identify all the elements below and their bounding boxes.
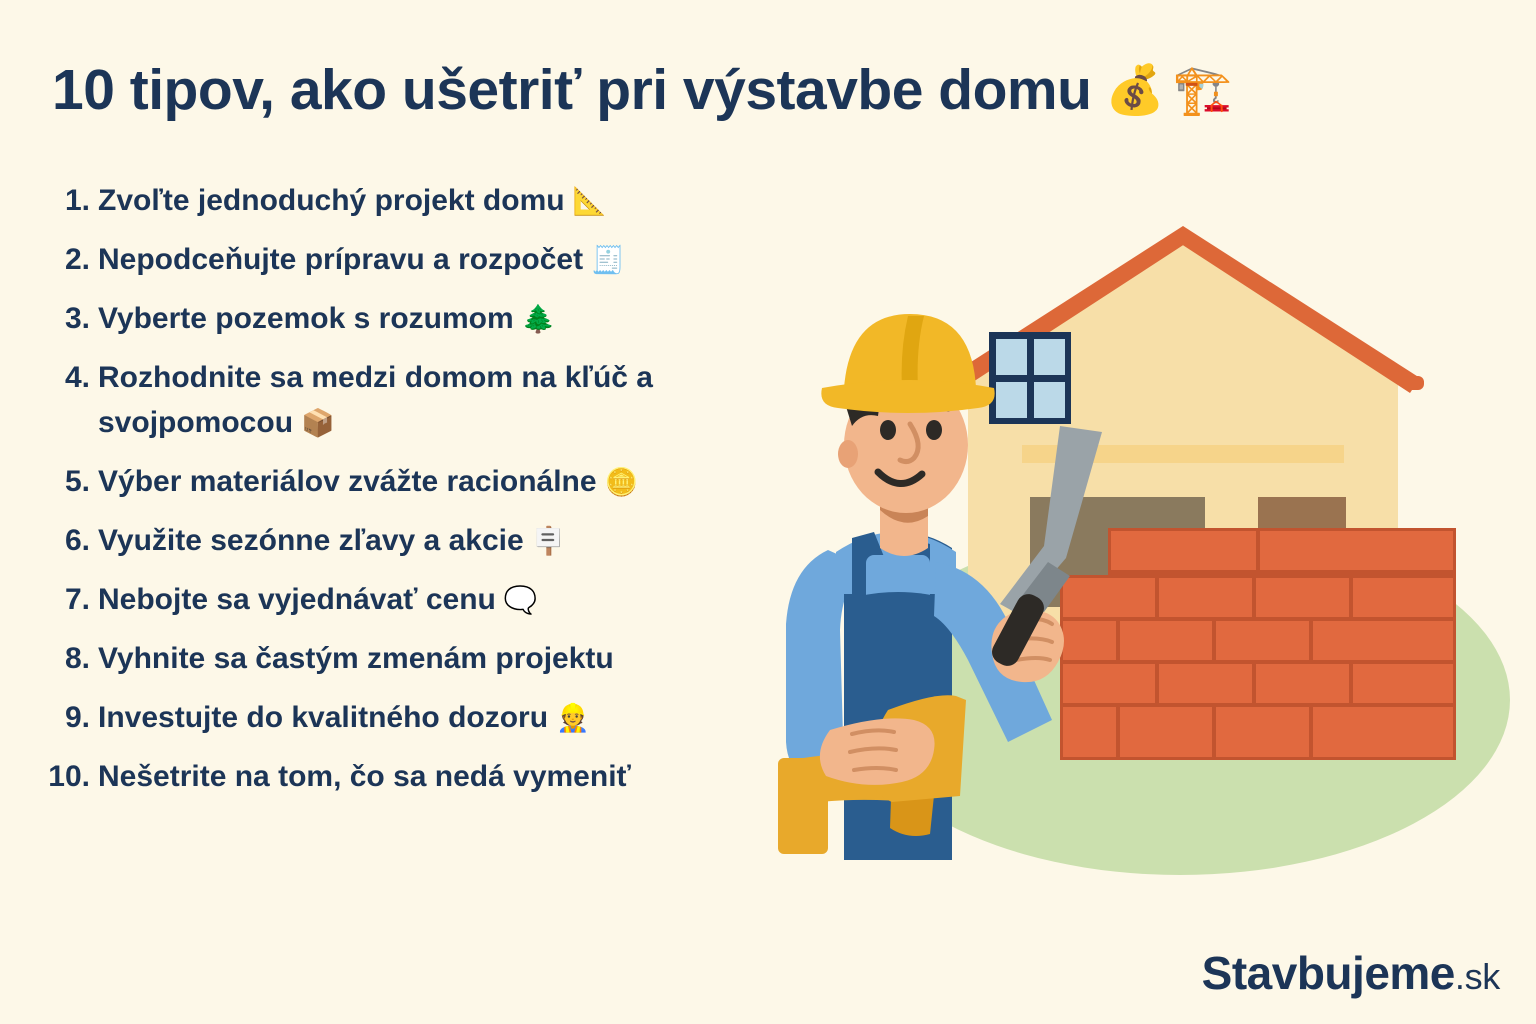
roof-eave-right [1404,376,1424,390]
brick [1216,707,1309,757]
brick [1159,664,1252,703]
coin-icon: 🪙 [605,467,639,497]
worker-helmet-brim [821,380,994,413]
brick [1216,621,1309,660]
worker-left-hand [820,718,935,785]
list-item: 7. Nebojte sa vyjednávať cenu🗨️ [40,577,770,622]
illustration-svg [760,200,1536,940]
brick [1313,707,1453,757]
list-item-label: Rozhodnite sa medzi domom na kľúč a svoj… [98,361,653,439]
list-item-label: Vyberte pozemok s rozumom [98,302,514,335]
list-item-label: Vyhnite sa častým zmenám projektu [98,642,614,675]
list-item-number: 9. [40,695,98,740]
list-item-body: Investujte do kvalitného dozoru👷 [98,695,590,740]
construction-icon: 🏗️ [1173,67,1232,115]
brick [1353,578,1453,617]
speech-balloon-icon: 🗨️ [504,585,538,615]
list-item-body: Zvoľte jednoduchý projekt domu📐 [98,178,606,223]
list-item: 5. Výber materiálov zvážte racionálne🪙 [40,459,770,504]
worker-ear [838,440,858,468]
hand-knuckle-line-3 [854,768,896,770]
brick [1159,578,1252,617]
list-item: 3. Vyberte pozemok s rozumom🌲 [40,296,770,341]
worker-eye-left [880,420,896,440]
tips-list: 1. Zvoľte jednoduchý projekt domu📐 2. Ne… [40,178,770,813]
brick [1063,707,1116,757]
list-item-label: Využite sezónne zľavy a akcie [98,524,524,557]
list-item-number: 5. [40,459,98,504]
list-item-body: Výber materiálov zvážte racionálne🪙 [98,459,638,504]
list-item-number: 7. [40,577,98,622]
brick [1063,621,1116,660]
triangular-ruler-icon: 📐 [573,186,607,216]
brick [1256,578,1349,617]
list-item-label: Nešetrite na tom, čo sa nedá vymeniť [98,760,631,793]
site-logo[interactable]: Stavbujeme.sk [1202,950,1500,996]
list-item-label: Výber materiálov zvážte racionálne [98,465,597,498]
list-item-number: 3. [40,296,98,341]
list-item-body: Vyhnite sa častým zmenám projektu [98,636,614,681]
window-pane-bl [996,382,1027,418]
brick [1313,621,1453,660]
logo-brand-text: Stavbujeme [1202,947,1455,999]
list-item: 6. Využite sezónne zľavy a akcie🪧 [40,518,770,563]
brick [1063,664,1155,703]
brick [1256,664,1349,703]
money-bag-icon: 💰 [1105,67,1164,115]
attic-window [989,332,1071,424]
logo-tld-text: .sk [1455,956,1500,997]
evergreen-tree-icon: 🌲 [522,304,556,334]
list-item-number: 6. [40,518,98,563]
list-item-number: 1. [40,178,98,223]
list-item-body: Nešetrite na tom, čo sa nedá vymeniť [98,754,631,799]
list-item: 8. Vyhnite sa častým zmenám projektu [40,636,770,681]
brick [1120,621,1212,660]
construction-worker-icon: 👷 [556,703,590,733]
window-pane-br [1034,382,1065,418]
list-item-number: 10. [40,754,98,799]
list-item-number: 8. [40,636,98,681]
list-item-label: Zvoľte jednoduchý projekt domu [98,184,565,217]
package-box-icon: 📦 [301,408,335,438]
list-item: 10. Nešetrite na tom, čo sa nedá vymeniť [40,754,770,799]
list-item: 1. Zvoľte jednoduchý projekt domu📐 [40,178,770,223]
page-title-text: 10 tipov, ako ušetriť pri výstavbe domu [52,58,1091,124]
list-item-body: Vyberte pozemok s rozumom🌲 [98,296,555,341]
receipt-icon: 🧾 [591,245,625,275]
list-item-body: Rozhodnite sa medzi domom na kľúč a svoj… [98,355,758,445]
list-item-body: Využite sezónne zľavy a akcie🪧 [98,518,565,563]
list-item-body: Nebojte sa vyjednávať cenu🗨️ [98,577,538,622]
brick [1260,531,1453,570]
list-item: 2. Nepodceňujte prípravu a rozpočet🧾 [40,237,770,282]
infographic-canvas: 10 tipov, ako ušetriť pri výstavbe domu … [0,0,1536,1024]
list-item-number: 2. [40,237,98,282]
worker-eye-right [926,420,942,440]
brick [1111,531,1256,570]
list-item-label: Nepodceňujte prípravu a rozpočet [98,243,583,276]
window-pane-tl [996,339,1027,375]
page-title: 10 tipov, ako ušetriť pri výstavbe domu … [52,58,1232,124]
placard-icon: 🪧 [532,526,566,556]
brick [1120,707,1212,757]
brick [1063,578,1155,617]
brick [1353,664,1453,703]
list-item-label: Investujte do kvalitného dozoru [98,701,548,734]
window-pane-tr [1034,339,1065,375]
grip-line-3 [1016,658,1050,660]
tool-belt-pouch [778,758,828,854]
builder-house-illustration [760,200,1536,940]
list-item: 4. Rozhodnite sa medzi domom na kľúč a s… [40,355,770,445]
list-item: 9. Investujte do kvalitného dozoru👷 [40,695,770,740]
list-item-body: Nepodceňujte prípravu a rozpočet🧾 [98,237,625,282]
list-item-number: 4. [40,355,98,400]
brick-wall [1060,528,1456,760]
list-item-label: Nebojte sa vyjednávať cenu [98,583,496,616]
